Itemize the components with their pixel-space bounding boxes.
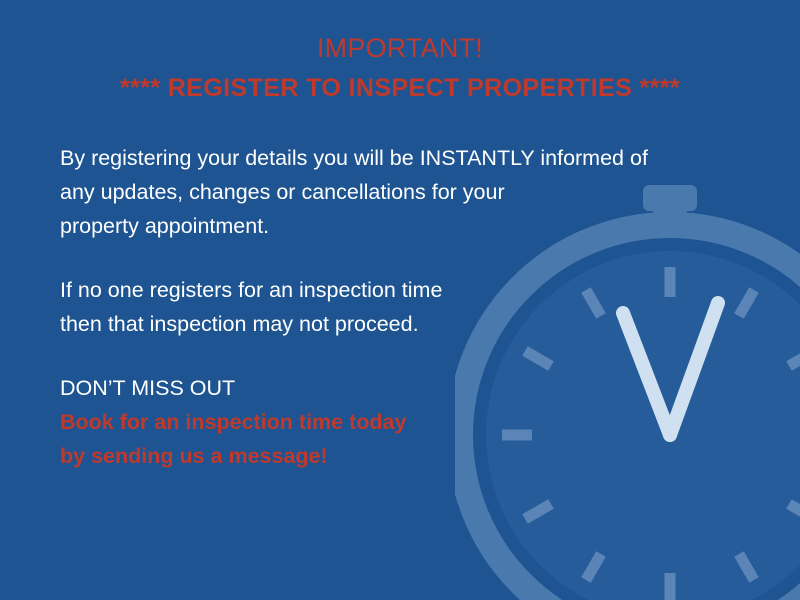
paragraph-no-registration: If no one registers for an inspection ti… xyxy=(60,274,720,342)
paragraph1-line-2: any updates, changes or cancellations fo… xyxy=(60,180,505,204)
poster-canvas: IMPORTANT! **** REGISTER TO INSPECT PROP… xyxy=(0,0,800,600)
body-copy: By registering your details you will be … xyxy=(60,142,720,474)
paragraph-registering: By registering your details you will be … xyxy=(60,142,720,244)
paragraph2-line-2: then that inspection may not proceed. xyxy=(60,312,419,336)
headline-line-1: IMPORTANT! xyxy=(0,32,800,65)
cta-line-3: by sending us a message! xyxy=(60,440,720,474)
paragraph1-line-3: property appointment. xyxy=(60,214,269,238)
call-to-action: DON’T MISS OUT Book for an inspection ti… xyxy=(60,372,720,474)
cta-line-2: Book for an inspection time today xyxy=(60,406,720,440)
paragraph1-line-1: By registering your details you will be … xyxy=(60,146,648,170)
cta-line-1: DON’T MISS OUT xyxy=(60,372,720,406)
paragraph2-line-1: If no one registers for an inspection ti… xyxy=(60,278,442,302)
headline-line-2: **** REGISTER TO INSPECT PROPERTIES **** xyxy=(0,73,800,104)
headline: IMPORTANT! **** REGISTER TO INSPECT PROP… xyxy=(0,32,800,103)
